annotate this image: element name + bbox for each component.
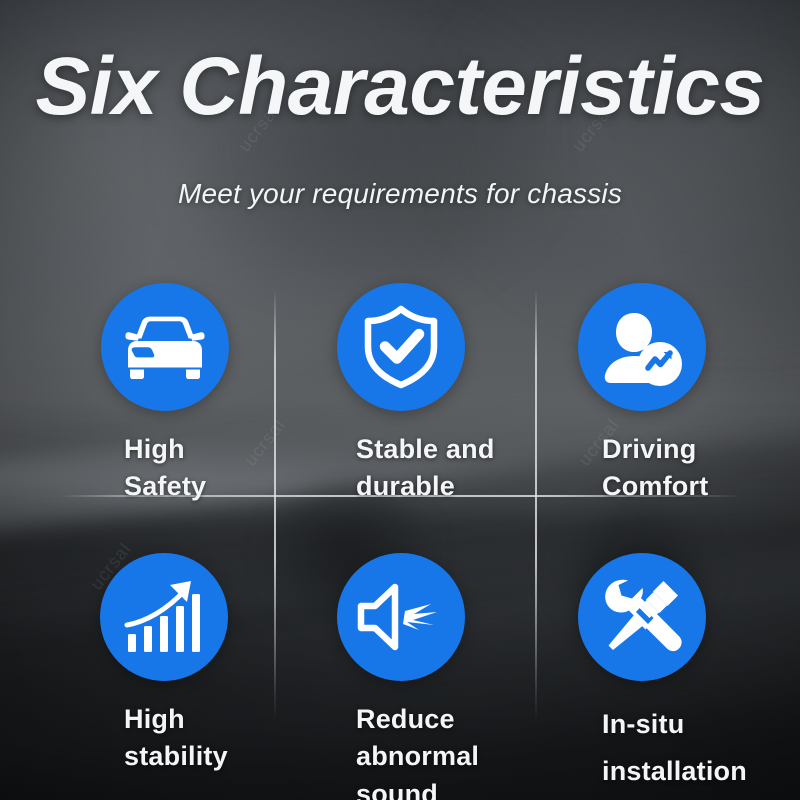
feature-item-reduce-abnormal-sound[interactable]: Reduce abnormal sound: [337, 553, 592, 800]
feature-label: Driving Comfort: [602, 431, 800, 506]
feature-item-high-stability[interactable]: High stability: [100, 553, 355, 776]
feature-item-in-situ-installation[interactable]: In-situ installation: [578, 553, 800, 796]
feature-item-driving-comfort[interactable]: Driving Comfort: [578, 283, 800, 506]
feature-label: In-situ installation: [602, 701, 800, 796]
feature-icon-badge: [578, 283, 706, 411]
wrench-screwdriver-icon: [601, 576, 683, 658]
feature-icon-badge: [578, 553, 706, 681]
feature-label: Reduce abnormal sound: [356, 701, 592, 800]
feature-item-high-safety[interactable]: High Safety: [100, 283, 355, 506]
feature-label: High stability: [124, 701, 355, 776]
feature-grid: High Safety Stable and durable: [0, 0, 800, 800]
feature-icon-badge: [100, 553, 228, 681]
feature-icon-badge: [337, 283, 465, 411]
feature-label: High Safety: [124, 431, 355, 506]
bar-chart-growth-icon: [123, 578, 205, 656]
person-chart-icon: [601, 307, 683, 387]
feature-label: Stable and durable: [356, 431, 592, 506]
car-front-icon: [122, 312, 208, 382]
speaker-noise-icon: [357, 581, 445, 653]
feature-icon-badge: [337, 553, 465, 681]
shield-check-icon: [362, 305, 440, 389]
feature-item-stable-and-durable[interactable]: Stable and durable: [337, 283, 592, 506]
poster-canvas: ucrsal ucrsal ucrsal ucrsal ucrsal Six C…: [0, 0, 800, 800]
feature-icon-badge: [101, 283, 229, 411]
